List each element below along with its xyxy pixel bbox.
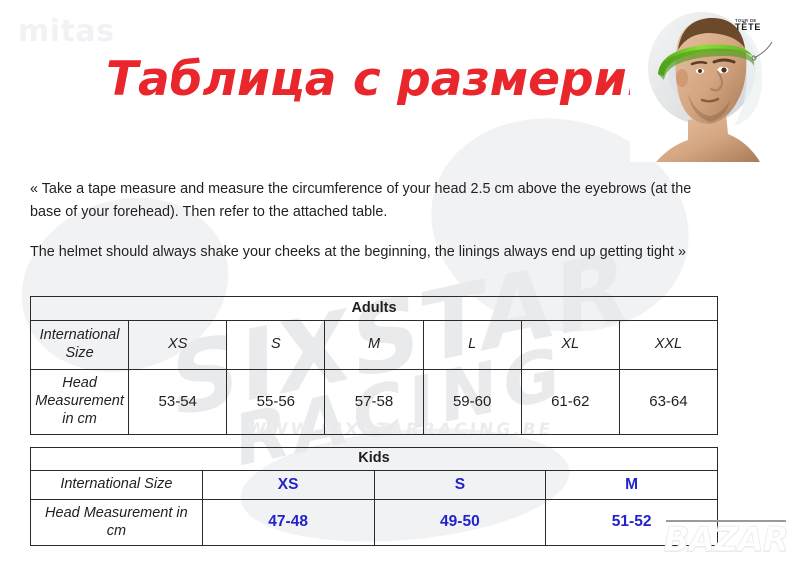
adults-size-l: L bbox=[423, 321, 521, 370]
tour-de-tete-label: TOUR DE TÊTE bbox=[735, 19, 761, 33]
kids-size-table: Kids International Size XS S M Head Meas… bbox=[30, 447, 718, 546]
adults-size-table: Adults International Size XS S M L XL XX… bbox=[30, 296, 718, 435]
size-chart-page: SIXSTAR RACING WWW.SIXSTARRACING.BE mita… bbox=[0, 0, 800, 568]
adults-measurement-l: 59-60 bbox=[423, 370, 521, 435]
adults-size-xxl: XXL bbox=[619, 321, 717, 370]
adults-measurement-xs: 53-54 bbox=[129, 370, 227, 435]
table-row: Kids bbox=[31, 448, 718, 471]
head-measurement-photo: TOUR DE TÊTE bbox=[630, 2, 796, 162]
intro-paragraph-1: « Take a tape measure and measure the ci… bbox=[30, 178, 714, 225]
bazar-watermark: BAZAR bbox=[664, 520, 788, 560]
kids-row-label-size: International Size bbox=[31, 471, 203, 500]
kids-size-xs: XS bbox=[202, 471, 374, 500]
intro-paragraph-2: The helmet should always shake your chee… bbox=[30, 241, 714, 264]
adults-measurement-m: 57-58 bbox=[325, 370, 423, 435]
table-row: International Size XS S M L XL XXL bbox=[31, 321, 718, 370]
adults-measurement-s: 55-56 bbox=[227, 370, 325, 435]
kids-size-s: S bbox=[374, 471, 546, 500]
table-row: Head Measurement in cm 47-48 49-50 51-52 bbox=[31, 500, 718, 546]
page-title: Таблица с размери: bbox=[106, 52, 645, 107]
kids-measurement-s: 49-50 bbox=[374, 500, 546, 546]
kids-measurement-xs: 47-48 bbox=[202, 500, 374, 546]
intro-text: « Take a tape measure and measure the ci… bbox=[30, 178, 714, 280]
kids-row-label-measurement: Head Measurement in cm bbox=[31, 500, 203, 546]
adults-measurement-xxl: 63-64 bbox=[619, 370, 717, 435]
adults-size-xs: XS bbox=[129, 321, 227, 370]
adults-measurement-xl: 61-62 bbox=[521, 370, 619, 435]
kids-table-caption: Kids bbox=[31, 448, 718, 471]
adults-size-s: S bbox=[227, 321, 325, 370]
head-photo-svg bbox=[630, 2, 796, 162]
mitas-watermark: mitas bbox=[18, 14, 114, 49]
adults-row-label-size: International Size bbox=[31, 321, 129, 370]
tour-de-tete-label-big: TÊTE bbox=[735, 23, 761, 32]
adults-size-xl: XL bbox=[521, 321, 619, 370]
table-row: International Size XS S M bbox=[31, 471, 718, 500]
table-row: Adults bbox=[31, 297, 718, 321]
adults-table-caption: Adults bbox=[31, 297, 718, 321]
table-row: Head Measurement in cm 53-54 55-56 57-58… bbox=[31, 370, 718, 435]
adults-size-m: M bbox=[325, 321, 423, 370]
adults-row-label-measurement: Head Measurement in cm bbox=[31, 370, 129, 435]
kids-size-m: M bbox=[546, 471, 718, 500]
